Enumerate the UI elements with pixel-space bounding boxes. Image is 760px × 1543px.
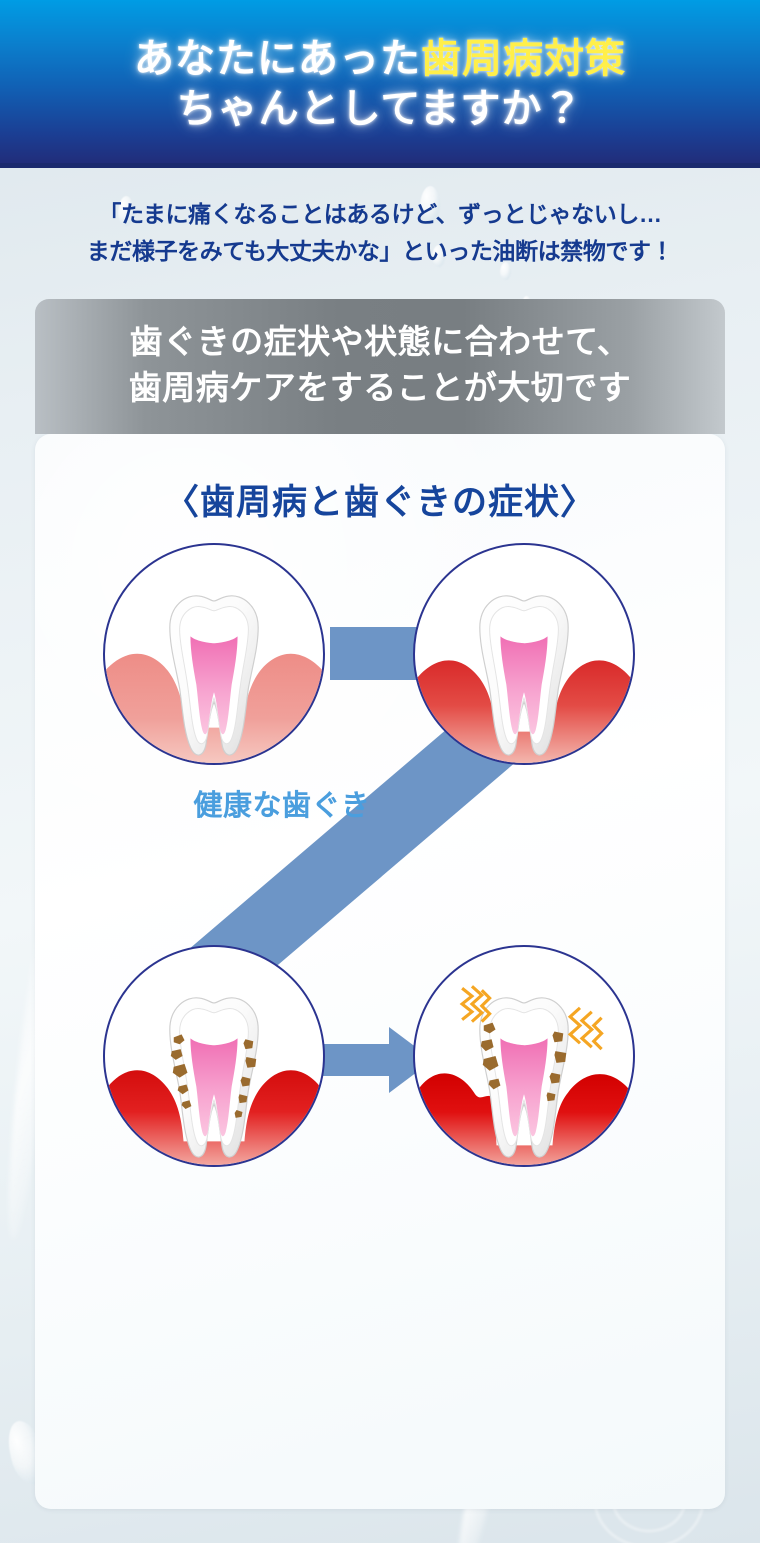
tooth-illustration-mild	[413, 543, 635, 765]
lead-line-2: まだ様子をみても大丈夫かな」といった油断は禁物です！	[0, 233, 760, 270]
header-text-plain: あなたにあった	[134, 37, 421, 81]
page-header: あなたにあった歯周病対策 ちゃんとしてますか？	[0, 0, 760, 168]
stage-label-healthy: 健康な歯ぐき	[117, 788, 447, 825]
stage-title-healthy: 健康な歯ぐき	[117, 788, 447, 825]
stage-severe[interactable]: 歯槽膿漏 膿がでる、歯がグラつく	[413, 945, 635, 1167]
tooth-illustration-healthy	[103, 543, 325, 765]
stage-healthy[interactable]: 健康な歯ぐき	[103, 543, 325, 765]
periodontal-stage-diagram: 健康な歯ぐき	[35, 535, 725, 1435]
gray-headline-banner: 歯ぐきの症状や状態に合わせて、 歯周病ケアをすることが大切です	[35, 299, 725, 435]
stage-mild[interactable]: 軽度歯周病 歯ぐきのはれ・出血	[413, 543, 635, 765]
pain-zigzag-right	[570, 1008, 601, 1049]
connector-healthy-to-mild	[330, 627, 420, 680]
tooth-illustration-severe	[413, 945, 635, 1167]
card-title: 〈歯周病と歯ぐきの症状〉	[35, 434, 725, 525]
banner-line-2: 歯周病ケアをすることが大切です	[35, 365, 725, 412]
header-line-2: ちゃんとしてますか？	[177, 84, 584, 134]
banner-line-1: 歯ぐきの症状や状態に合わせて、	[35, 319, 725, 366]
lead-line-1: 「たまに痛くなることはあるけど、ずっとじゃないし…	[0, 196, 760, 233]
symptom-card: 〈歯周病と歯ぐきの症状〉	[35, 434, 725, 1509]
header-line-1: あなたにあった歯周病対策	[134, 34, 626, 84]
header-text-highlight: 歯周病対策	[421, 37, 626, 81]
tooth-illustration-moderate	[103, 945, 325, 1167]
lead-copy: 「たまに痛くなることはあるけど、ずっとじゃないし… まだ様子をみても大丈夫かな」…	[0, 168, 760, 291]
stage-moderate[interactable]: 中等度歯周病 すき間も目立ちはじめる。 口臭などがでる場合も	[103, 945, 325, 1167]
pain-zigzag-left	[462, 986, 489, 1021]
